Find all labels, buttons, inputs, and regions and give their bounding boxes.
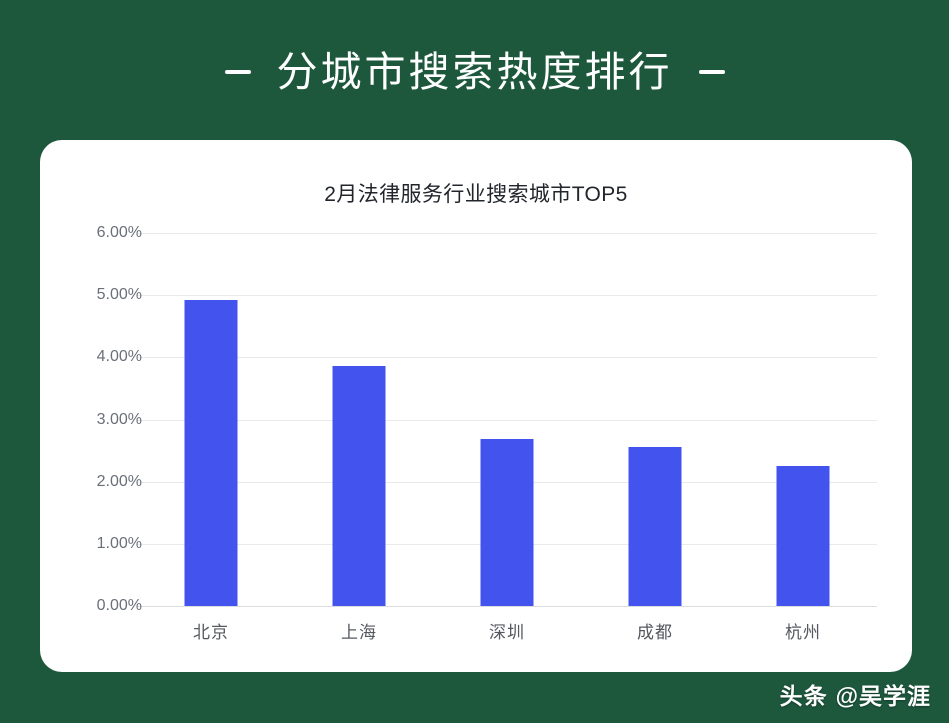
bar-slot: [729, 140, 877, 672]
page-header: 分城市搜索热度排行: [0, 0, 949, 140]
x-tick-label-上海: 上海: [285, 618, 433, 643]
x-tick-label-杭州: 杭州: [729, 618, 877, 643]
x-tick-label-深圳: 深圳: [433, 618, 581, 643]
bar-北京[interactable]: [185, 300, 238, 606]
x-axis: 北京上海深圳成都杭州: [137, 618, 877, 658]
watermark-handle: @吴学涯: [836, 677, 931, 711]
bar-深圳[interactable]: [481, 439, 534, 606]
bar-上海[interactable]: [333, 366, 386, 606]
header-right-dash-icon: [699, 70, 725, 74]
watermark-platform: 头条: [780, 677, 828, 711]
watermark: 头条 @吴学涯: [780, 677, 931, 711]
x-tick-label-成都: 成都: [581, 618, 729, 643]
y-tick-label: 6.00%: [58, 224, 142, 242]
y-tick-label: 2.00%: [58, 473, 142, 491]
x-tick-label-北京: 北京: [137, 618, 285, 643]
bar-杭州[interactable]: [777, 466, 830, 606]
bar-slot: [581, 140, 729, 672]
y-tick-label: 3.00%: [58, 411, 142, 429]
y-axis: 6.00%5.00%4.00%3.00%2.00%1.00%0.00%: [58, 224, 142, 615]
y-tick-label: 1.00%: [58, 535, 142, 553]
page-title: 分城市搜索热度排行: [277, 52, 673, 93]
y-tick-label: 5.00%: [58, 286, 142, 304]
y-tick-label: 4.00%: [58, 348, 142, 366]
bar-slot: [433, 140, 581, 672]
bar-成都[interactable]: [629, 447, 682, 606]
y-tick-label: 0.00%: [58, 597, 142, 615]
bar-slot: [137, 140, 285, 672]
chart-card: 2月法律服务行业搜索城市TOP5 6.00%5.00%4.00%3.00%2.0…: [40, 140, 912, 672]
bar-slot: [285, 140, 433, 672]
bars-group: [137, 140, 877, 672]
header-left-dash-icon: [225, 70, 251, 74]
chart-plot-area: 6.00%5.00%4.00%3.00%2.00%1.00%0.00% 北京上海…: [40, 140, 912, 672]
